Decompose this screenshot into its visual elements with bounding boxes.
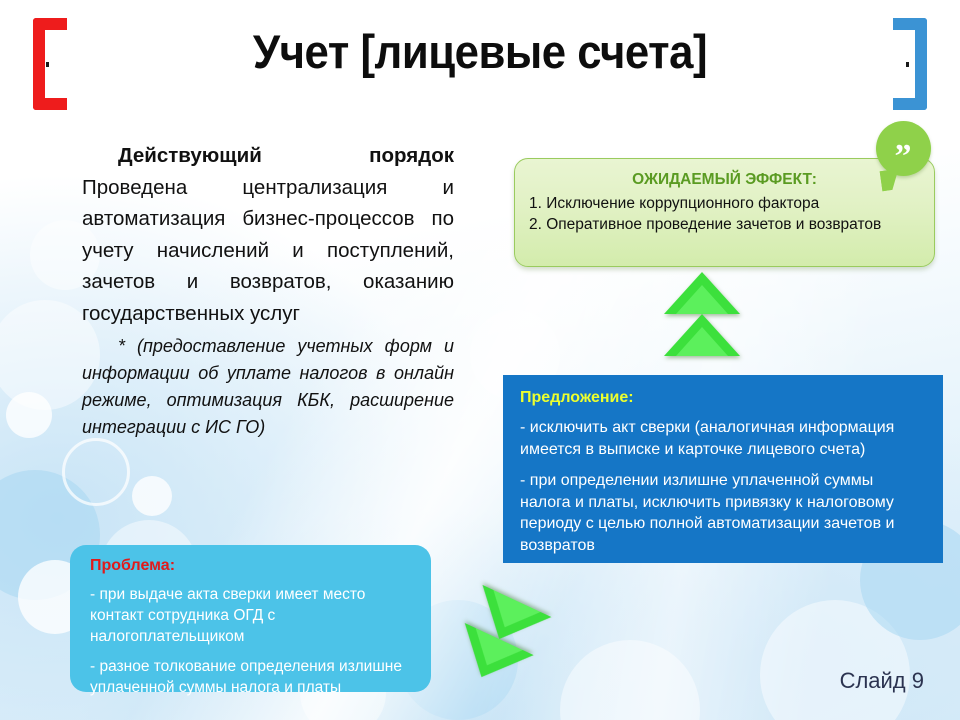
proposal-item: - исключить акт сверки (аналогичная инфо… bbox=[520, 417, 926, 460]
expected-effect-title: ОЖИДАЕМЫЙ ЭФФЕКТ: bbox=[525, 171, 924, 189]
expected-effect-item: 2. Оперативное проведение зачетов и возв… bbox=[525, 214, 924, 235]
main-paragraph-body: Проведена централизация и автоматизация … bbox=[82, 176, 454, 325]
note-paragraph: * (предоставление учетных форм и информа… bbox=[82, 333, 454, 441]
double-chevron-up-icon bbox=[662, 272, 742, 372]
main-paragraph-heading: Действующий порядок bbox=[118, 144, 454, 167]
expected-effect-item: 1. Исключение коррупционного фактора bbox=[525, 193, 924, 214]
quote-bubble-icon: ” bbox=[876, 121, 931, 176]
page-title: Учет [лицевые счета] bbox=[34, 24, 927, 79]
problem-title: Проблема: bbox=[90, 557, 411, 575]
problem-item: - при выдаче акта сверки имеет место кон… bbox=[90, 584, 411, 647]
chevron-up-bottom bbox=[664, 314, 740, 356]
expected-effect-callout: ОЖИДАЕМЫЙ ЭФФЕКТ: 1. Исключение коррупци… bbox=[514, 158, 935, 267]
quote-marks-glyph: ” bbox=[876, 121, 931, 176]
proposal-box: Предложение: - исключить акт сверки (ана… bbox=[503, 375, 943, 563]
left-text-column: Действующий порядок Проведена централиза… bbox=[82, 140, 454, 441]
proposal-title: Предложение: bbox=[520, 389, 926, 407]
slide-number: Слайд 9 bbox=[0, 668, 924, 694]
slide-canvas: Учет [лицевые счета] Действующий порядок… bbox=[0, 0, 960, 720]
chevron-up-top bbox=[664, 272, 740, 314]
proposal-item: - при определении излишне уплаченной сум… bbox=[520, 470, 926, 556]
main-paragraph: Действующий порядок Проведена централиза… bbox=[82, 140, 454, 329]
